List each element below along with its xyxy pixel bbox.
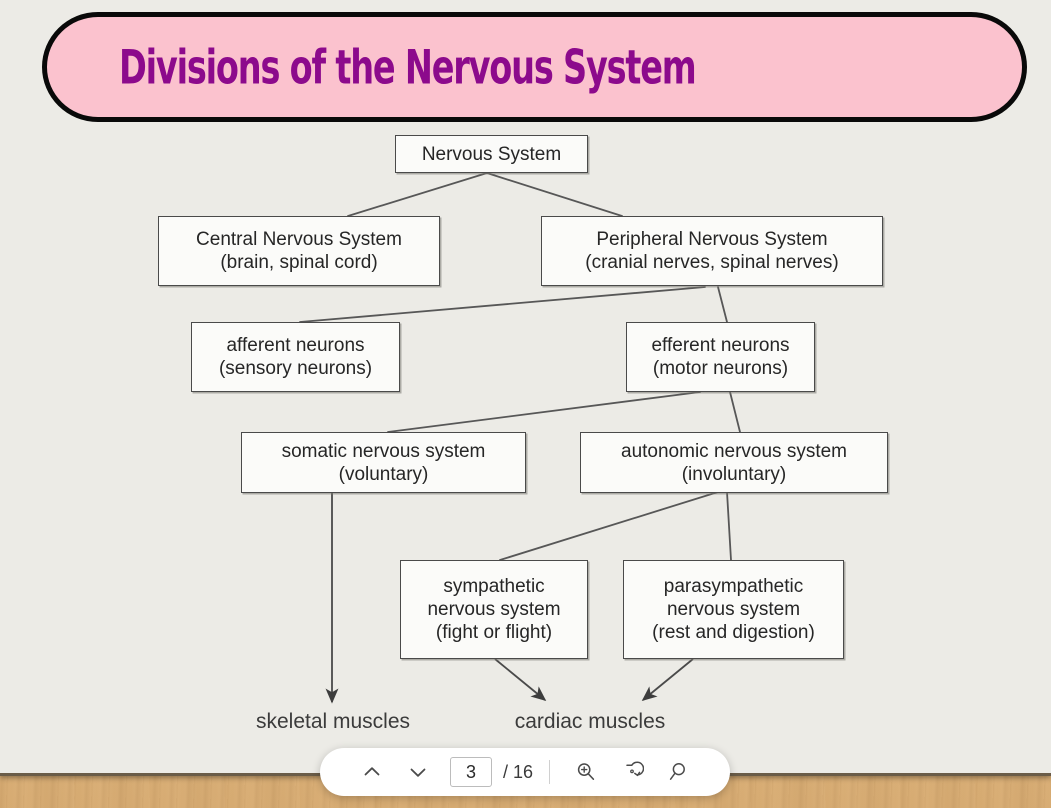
chevron-up-icon xyxy=(361,761,383,783)
node-label-line1: somatic nervous system xyxy=(282,440,486,463)
node-autonomic-nervous-system[interactable]: autonomic nervous system (involuntary) xyxy=(580,432,888,493)
node-label-line2: (brain, spinal cord) xyxy=(220,251,377,274)
search-button[interactable] xyxy=(656,752,700,792)
toolbar-divider xyxy=(549,760,550,784)
edge-parasympathetic-cardiac xyxy=(643,659,693,700)
pdf-toolbar: / 16 xyxy=(320,748,730,796)
node-sympathetic-nervous-system[interactable]: sympathetic nervous system (fight or fli… xyxy=(400,560,588,659)
rotate-clockwise-icon xyxy=(620,760,644,784)
page-number-input[interactable] xyxy=(450,757,492,787)
node-afferent-neurons[interactable]: afferent neurons (sensory neurons) xyxy=(191,322,400,392)
edge-autonomic-sympathetic xyxy=(500,492,718,560)
node-label-line3: (fight or flight) xyxy=(436,621,552,644)
node-parasympathetic-nervous-system[interactable]: parasympathetic nervous system (rest and… xyxy=(623,560,844,659)
edge-ns-pns xyxy=(487,173,622,216)
node-efferent-neurons[interactable]: efferent neurons (motor neurons) xyxy=(626,322,815,392)
node-label-line1: autonomic nervous system xyxy=(621,440,847,463)
node-label-line2: (motor neurons) xyxy=(653,357,788,380)
next-page-button[interactable] xyxy=(396,752,440,792)
node-label-line2: nervous system xyxy=(427,598,560,621)
edge-sympathetic-cardiac xyxy=(495,659,545,700)
rotate-clockwise-button[interactable] xyxy=(610,752,654,792)
node-peripheral-nervous-system[interactable]: Peripheral Nervous System (cranial nerve… xyxy=(541,216,883,286)
page-total-label: / 16 xyxy=(503,762,533,783)
zoom-in-button[interactable] xyxy=(564,752,608,792)
document-page: Divisions of the Nervous System xyxy=(0,0,1051,776)
node-central-nervous-system[interactable]: Central Nervous System (brain, spinal co… xyxy=(158,216,440,286)
node-label-line2: nervous system xyxy=(667,598,800,621)
node-somatic-nervous-system[interactable]: somatic nervous system (voluntary) xyxy=(241,432,526,493)
node-label-line2: (voluntary) xyxy=(339,463,429,486)
node-label-line1: parasympathetic xyxy=(664,575,803,598)
node-label-line3: (rest and digestion) xyxy=(652,621,815,644)
node-label-line2: (involuntary) xyxy=(682,463,787,486)
node-label-line2: (sensory neurons) xyxy=(219,357,372,380)
edge-pns-efferent xyxy=(718,287,727,322)
node-label-line1: efferent neurons xyxy=(651,334,789,357)
node-label-line1: afferent neurons xyxy=(226,334,364,357)
node-label-line1: Peripheral Nervous System xyxy=(596,228,827,251)
zoom-in-icon xyxy=(574,760,598,784)
node-label-line1: Nervous System xyxy=(422,143,561,166)
pdf-viewer: Divisions of the Nervous System xyxy=(0,0,1051,808)
node-label-line2: (cranial nerves, spinal nerves) xyxy=(585,251,838,274)
nervous-system-diagram: Nervous System Central Nervous System (b… xyxy=(0,0,1051,773)
edge-efferent-somatic xyxy=(388,392,700,432)
edge-efferent-autonomic xyxy=(730,392,740,432)
node-label-line1: Central Nervous System xyxy=(196,228,402,251)
search-icon xyxy=(666,760,690,784)
node-label-line1: sympathetic xyxy=(443,575,544,598)
edge-pns-afferent xyxy=(300,287,705,322)
node-nervous-system[interactable]: Nervous System xyxy=(395,135,588,173)
chevron-down-icon xyxy=(407,761,429,783)
leaf-skeletal-muscles: skeletal muscles xyxy=(241,709,425,734)
leaf-cardiac-muscles: cardiac muscles xyxy=(501,709,679,734)
previous-page-button[interactable] xyxy=(350,752,394,792)
edge-autonomic-parasympathetic xyxy=(727,492,731,560)
edge-ns-cns xyxy=(348,173,487,216)
